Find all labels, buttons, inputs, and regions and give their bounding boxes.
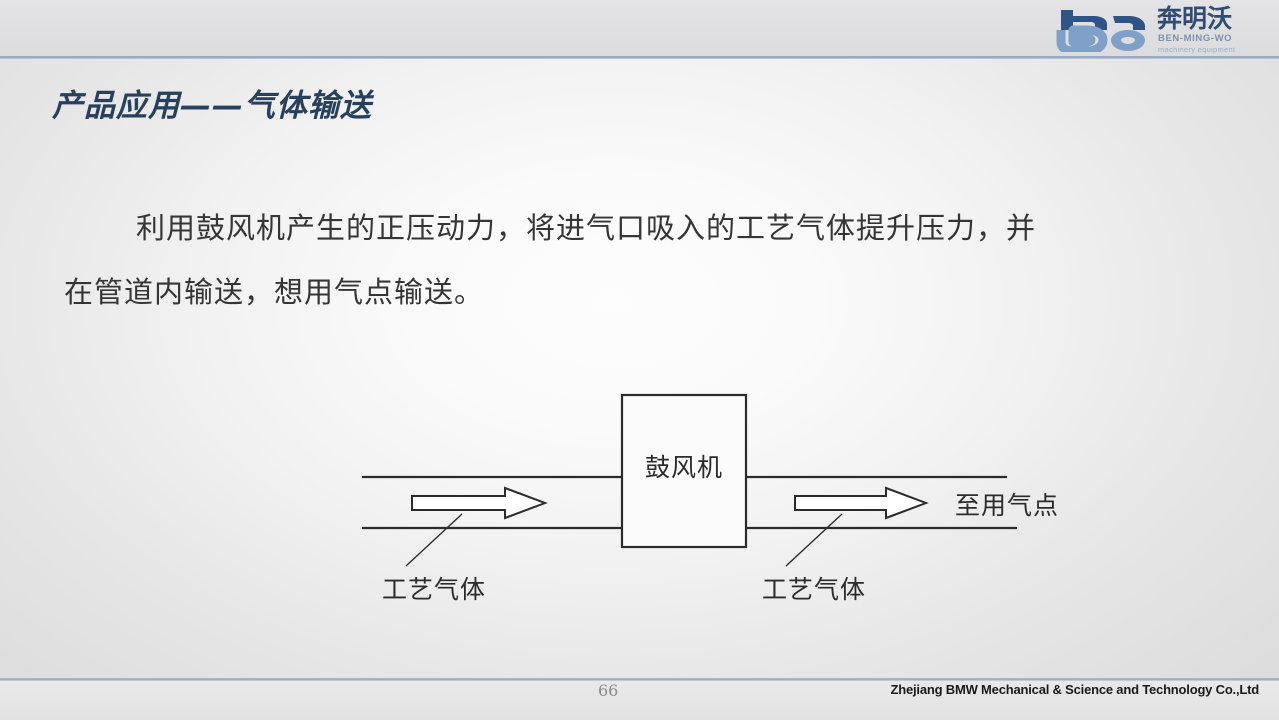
inlet-gas-label: 工艺气体 bbox=[382, 570, 486, 606]
logo-tagline: machinery equipment bbox=[1158, 45, 1235, 54]
bo-monogram-icon bbox=[1053, 8, 1153, 52]
page-number: 66 bbox=[598, 681, 618, 700]
logo-wordmark: 奔明沃 BEN-MING-WO machinery equipment bbox=[1157, 4, 1269, 56]
logo-cn-name: 奔明沃 bbox=[1157, 5, 1232, 32]
body-paragraph: 利用鼓风机产生的正压动力，将进气口吸入的工艺气体提升压力，并在管道内输送，想用气… bbox=[64, 196, 1064, 324]
company-logo: 奔明沃 BEN-MING-WO machinery equipment bbox=[1031, 2, 1271, 56]
slide-title: 产品应用——气体输送 bbox=[52, 80, 372, 125]
use-point-label: 至用气点 bbox=[955, 486, 1059, 522]
blower-label: 鼓风机 bbox=[622, 448, 746, 484]
flow-arrow-inlet bbox=[412, 488, 545, 518]
leader-line-outlet bbox=[786, 514, 842, 566]
header-divider bbox=[0, 56, 1279, 59]
logo-en-name: BEN-MING-WO bbox=[1158, 33, 1232, 44]
outlet-gas-label: 工艺气体 bbox=[762, 570, 866, 606]
slide-canvas: 奔明沃 BEN-MING-WO machinery equipment 产品应用… bbox=[0, 0, 1279, 720]
company-name: Zhejiang BMW Mechanical & Science and Te… bbox=[891, 682, 1260, 697]
flow-arrow-outlet bbox=[795, 488, 926, 518]
leader-line-inlet bbox=[406, 514, 462, 566]
